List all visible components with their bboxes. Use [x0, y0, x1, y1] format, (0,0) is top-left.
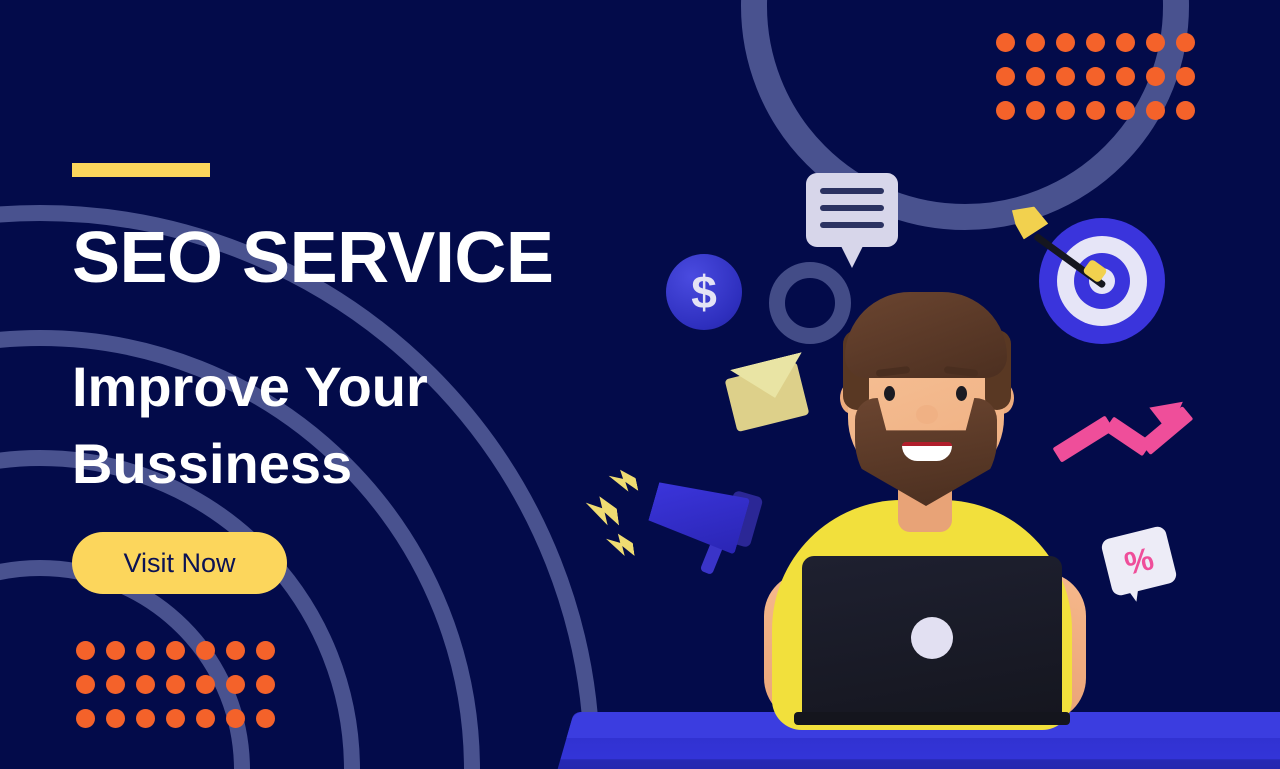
dot	[1026, 67, 1045, 86]
dot	[996, 33, 1015, 52]
dot	[1116, 101, 1135, 120]
dot	[1026, 101, 1045, 120]
dot	[1176, 101, 1195, 120]
dot-grid-top-right	[996, 33, 1206, 135]
dot	[1146, 67, 1165, 86]
dot	[1086, 33, 1105, 52]
accent-bar	[72, 163, 210, 177]
decorative-ring-small-icon	[769, 262, 851, 344]
dot	[1086, 67, 1105, 86]
dot	[1086, 101, 1105, 120]
dot	[1056, 101, 1075, 120]
dot	[996, 67, 1015, 86]
seo-service-banner: $ % SEO SERVICE Im	[0, 0, 1280, 769]
visit-now-button[interactable]: Visit Now	[72, 532, 287, 594]
dot	[1146, 33, 1165, 52]
dot	[1146, 101, 1165, 120]
dot	[996, 101, 1015, 120]
hero-text-column: SEO SERVICE Improve Your Bussiness Visit…	[72, 0, 692, 769]
dot	[1026, 33, 1045, 52]
dot	[1116, 33, 1135, 52]
dot	[1116, 67, 1135, 86]
dot	[1176, 33, 1195, 52]
dot	[1056, 67, 1075, 86]
dot	[1056, 33, 1075, 52]
dot	[1176, 67, 1195, 86]
page-subtitle: Improve Your Bussiness	[72, 348, 552, 503]
page-title: SEO SERVICE	[72, 222, 553, 294]
